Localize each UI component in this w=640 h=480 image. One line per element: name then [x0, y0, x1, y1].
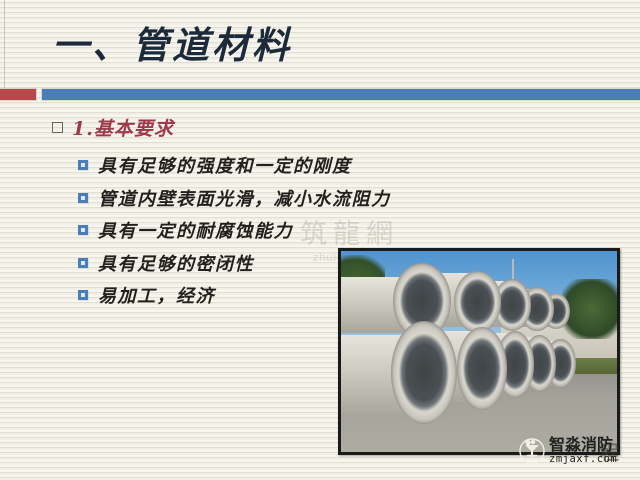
list-item-label: 管道内壁表面光滑，减小水流阻力	[98, 185, 391, 211]
list-item: 具有一定的耐腐蚀能力	[78, 214, 382, 247]
photo-palm-right	[562, 279, 617, 339]
logo-badge[interactable]: 智淼消防 zmjaxf.com	[519, 437, 617, 465]
photo-frame	[338, 248, 620, 455]
company-name-label: 智淼消防	[549, 437, 617, 453]
blue-square-bullet-icon	[78, 258, 88, 268]
red-accent-block	[0, 88, 37, 101]
list-item-label: 具有足够的密闭性	[98, 250, 254, 276]
company-url-label: zmjaxf.com	[549, 454, 617, 465]
list-item-label: 具有一定的耐腐蚀能力	[98, 217, 293, 243]
blue-square-bullet-icon	[78, 193, 88, 203]
photo-pipe-face	[457, 327, 507, 409]
company-logo-icon	[519, 438, 545, 464]
sub-list: 具有足够的强度和一定的刚度 管道内壁表面光滑，减小水流阻力 具有一定的耐腐蚀能力…	[78, 149, 382, 312]
concrete-pipes-photo	[341, 251, 617, 452]
section-heading-label: 1.基本要求	[72, 114, 174, 141]
list-item: 易加工，经济	[78, 279, 382, 312]
list-item: 具有足够的强度和一定的刚度	[78, 149, 382, 182]
hollow-square-bullet-icon	[52, 122, 63, 133]
list-item-section: 1.基本要求	[52, 112, 382, 142]
content-list: 1.基本要求 具有足够的强度和一定的刚度 管道内壁表面光滑，减小水流阻力 具有一…	[52, 112, 382, 312]
photo-pipe-face	[454, 271, 501, 333]
left-margin-hairline	[4, 0, 5, 88]
list-item: 管道内壁表面光滑，减小水流阻力	[78, 182, 382, 215]
blue-square-bullet-icon	[78, 290, 88, 300]
blue-square-bullet-icon	[78, 160, 88, 170]
page-title: 一、管道材料	[52, 21, 292, 69]
list-item-label: 易加工，经济	[98, 282, 215, 308]
list-item-label: 具有足够的强度和一定的刚度	[98, 152, 352, 178]
logo-text-group: 智淼消防 zmjaxf.com	[549, 437, 617, 465]
photo-pipe-face	[391, 321, 457, 424]
slide-canvas: 一、管道材料 1.基本要求 具有足够的强度和一定的刚度 管道内壁表面光滑，减小水…	[0, 0, 640, 480]
blue-rule-bar	[41, 88, 640, 101]
list-item: 具有足够的密闭性	[78, 247, 382, 280]
blue-square-bullet-icon	[78, 225, 88, 235]
